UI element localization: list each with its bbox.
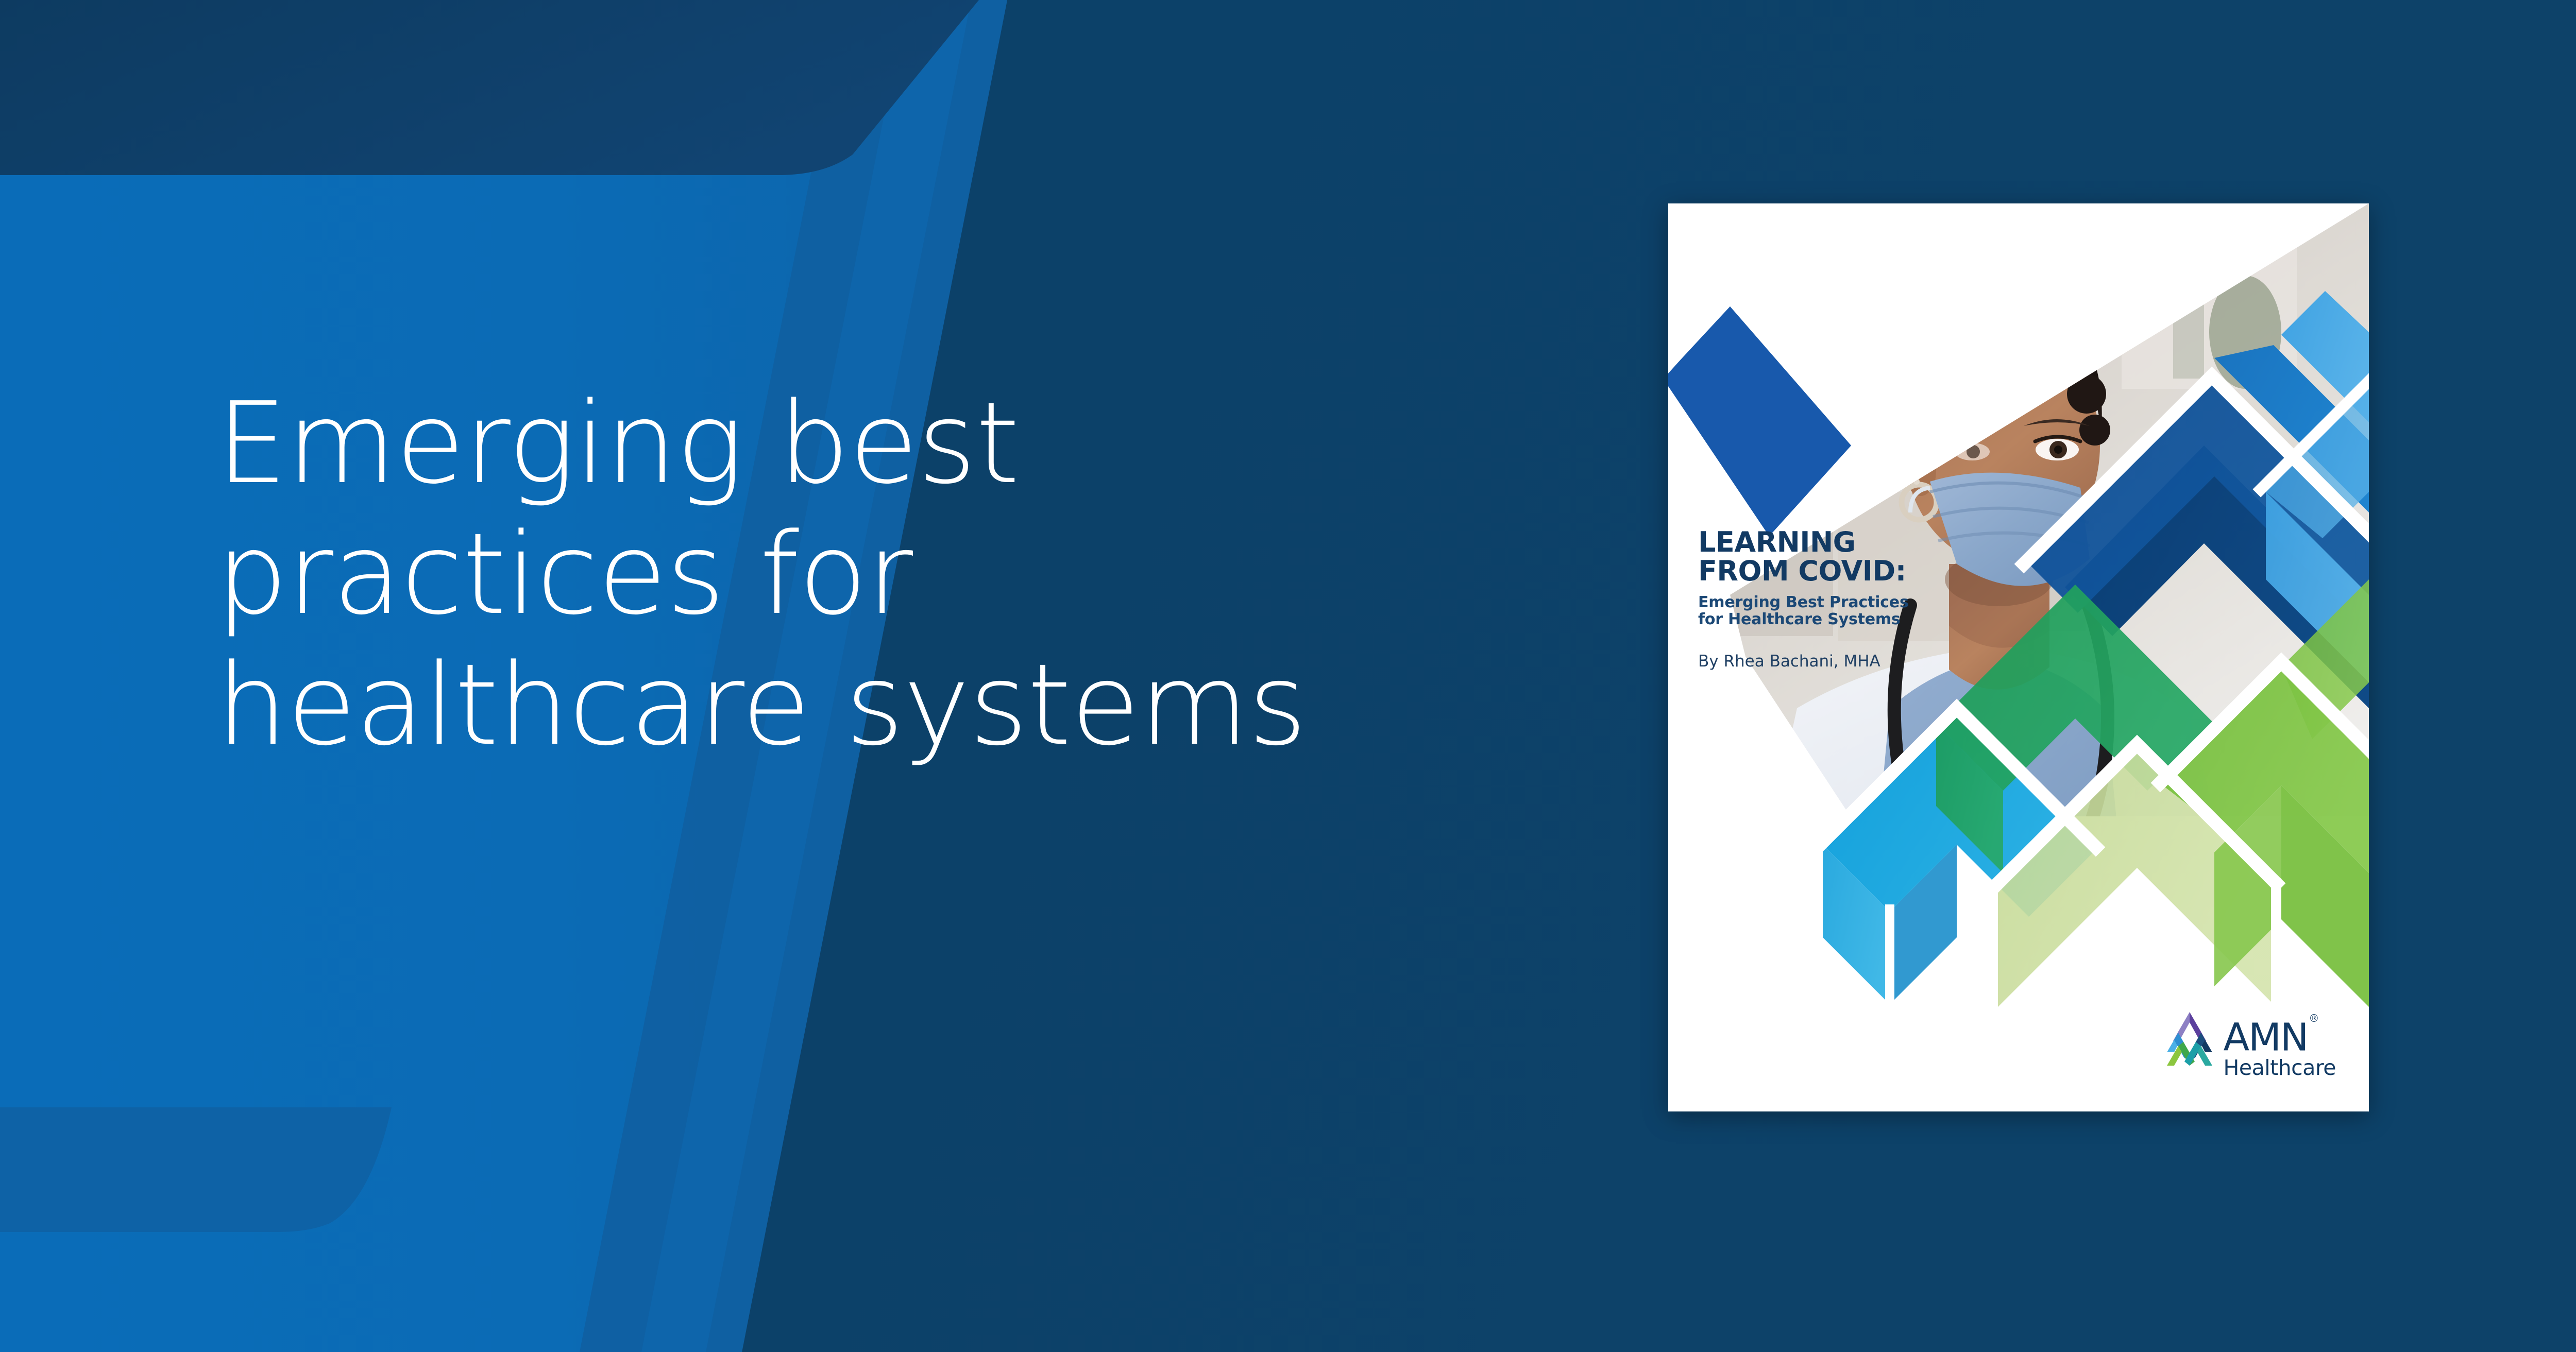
amn-logo-brand: AMN® — [2224, 1017, 2336, 1054]
cover-title: LEARNING FROM COVID: — [1698, 528, 1909, 586]
cover-title-line-1: LEARNING — [1698, 528, 1909, 557]
amn-logo-mark-icon — [2163, 1010, 2216, 1068]
bg-navy-panel-bottom — [0, 1107, 392, 1232]
amn-logo-brand-text: AMN — [2224, 1016, 2308, 1060]
cover-text-block: LEARNING FROM COVID: Emerging Best Pract… — [1698, 528, 1909, 670]
amn-logo-tagline: Healthcare — [2224, 1057, 2336, 1079]
headline-line-1: Emerging best — [216, 379, 1607, 509]
amn-healthcare-logo: AMN® Healthcare — [2163, 1010, 2336, 1079]
cover-subtitle: Emerging Best Practices for Healthcare S… — [1698, 594, 1909, 628]
bg-right-edge — [2571, 0, 2576, 1352]
headline-line-2: practices for — [216, 509, 1607, 640]
cover-subtitle-line-2: for Healthcare Systems — [1698, 611, 1909, 628]
ebook-cover-thumbnail[interactable]: LEARNING FROM COVID: Emerging Best Pract… — [1668, 203, 2369, 1111]
amn-logo-wordmark: AMN® Healthcare — [2224, 1010, 2336, 1079]
cover-author: By Rhea Bachani, MHA — [1698, 653, 1909, 670]
registered-trademark-icon: ® — [2309, 1012, 2319, 1024]
bg-navy-panel-top — [0, 0, 979, 175]
headline-line-3: healthcare systems — [216, 640, 1607, 771]
cover-subtitle-line-1: Emerging Best Practices — [1698, 594, 1909, 611]
cover-title-line-2: FROM COVID: — [1698, 557, 1909, 586]
page-title: Emerging best practices for healthcare s… — [216, 379, 1607, 771]
